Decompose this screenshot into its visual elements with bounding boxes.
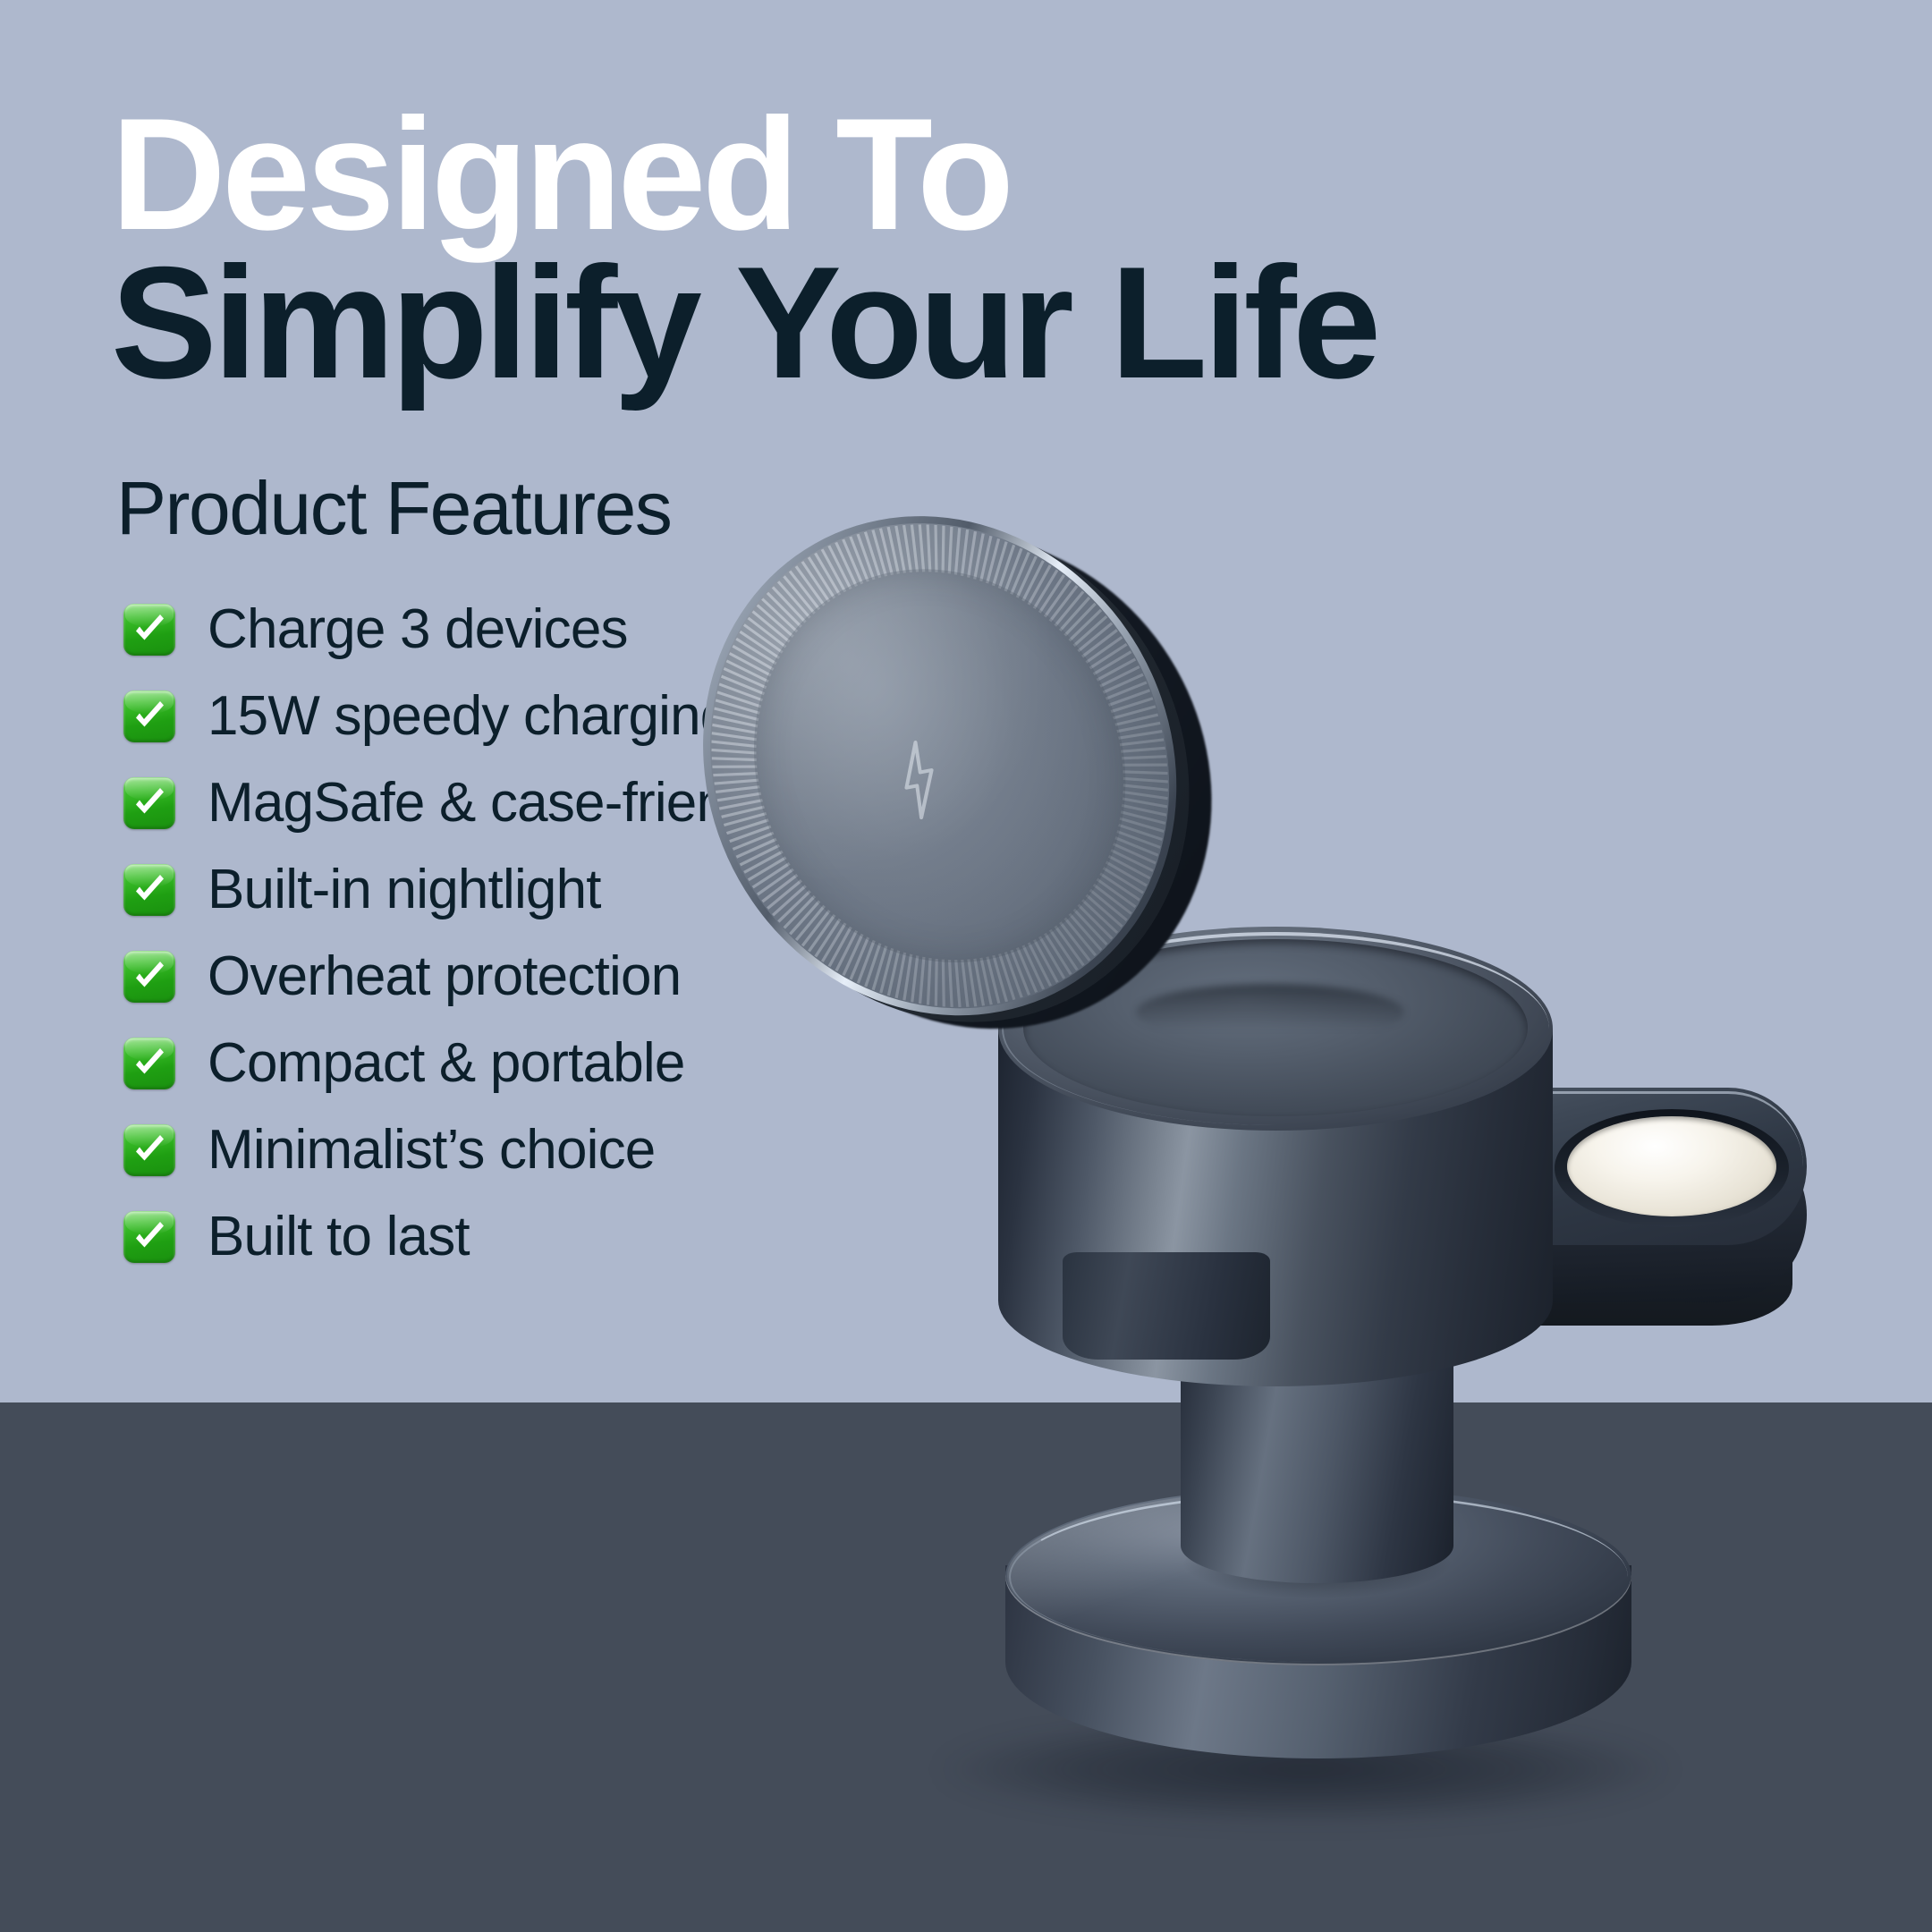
green-check-mark-icon	[123, 1124, 175, 1176]
feature-label: Built-in nightlight	[208, 862, 601, 918]
section-title-product-features: Product Features	[116, 465, 671, 552]
feature-label: Overheat protection	[208, 949, 681, 1004]
headline-line-2: Simplify Your Life	[111, 249, 1631, 397]
headline-line-1: Designed To	[111, 100, 1631, 249]
green-check-mark-icon	[123, 1038, 175, 1089]
feature-label: Minimalist’s choice	[208, 1123, 655, 1178]
product-watch-charging-pad	[1567, 1116, 1776, 1216]
feature-label: Built to last	[208, 1209, 470, 1265]
green-check-mark-icon	[123, 951, 175, 1003]
feature-label: Compact & portable	[208, 1036, 685, 1091]
green-check-mark-icon	[123, 864, 175, 916]
green-check-mark-icon	[123, 604, 175, 656]
feature-list-item: Built to last	[123, 1193, 1018, 1280]
green-check-mark-icon	[123, 691, 175, 742]
product-image-charging-stand	[912, 626, 1932, 1878]
promo-banner: Designed To Simplify Your Life Product F…	[0, 0, 1932, 1932]
feature-label: Charge 3 devices	[208, 602, 628, 657]
green-check-mark-icon	[123, 1211, 175, 1263]
headline-block: Designed To Simplify Your Life	[111, 100, 1631, 396]
green-check-mark-icon	[123, 777, 175, 829]
product-pad-hinge	[1063, 1252, 1270, 1360]
